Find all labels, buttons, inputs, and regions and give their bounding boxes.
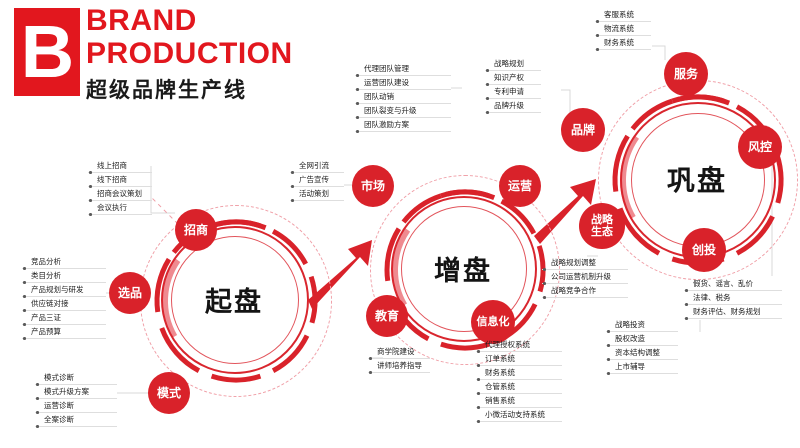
list-xuanpin: 竞品分析类目分析产品规划与研发供应链对接产品三证产品预算 [22,255,106,339]
list-item: 线上招商 [88,159,152,173]
list-item: 小微活动支持系统 [476,408,562,422]
list-item: 招商会议策划 [88,187,152,201]
node-yunying[interactable]: 运营 [499,165,541,207]
diagram-canvas: B BRAND PRODUCTION 超级品牌生产线 起盘 招商 选品 模式 增… [0,0,800,448]
node-chuangtou[interactable]: 创投 [682,228,726,272]
node-fuwu-label: 服务 [674,68,698,81]
node-pinpai[interactable]: 品牌 [561,108,605,152]
node-zhanlue-label-line2: 生态 [591,226,613,238]
list-item: 战略投资 [606,318,678,332]
node-chuangtou-label: 创投 [692,244,716,257]
list-item: 产品规划与研发 [22,283,106,297]
list-item: 假货、谣言、乱价 [684,277,782,291]
list-item: 团队激励方案 [355,118,451,132]
list-item: 公司运营机制升级 [542,270,628,284]
node-moshi-label: 模式 [157,387,181,400]
list-item: 供应链对接 [22,297,106,311]
list-item: 股权改造 [606,332,678,346]
list-item: 全网引流 [290,159,344,173]
list-chuangtou: 战略投资股权改造资本结构调整上市辅导 [606,318,678,374]
node-pinpai-label: 品牌 [571,124,595,137]
list-item: 类目分析 [22,269,106,283]
list-item: 广告宣传 [290,173,344,187]
list-item: 战略规划 [485,57,541,71]
list-fuwu: 客服系统物流系统财务系统 [595,8,651,50]
list-item: 战略规划调整 [542,256,628,270]
node-moshi[interactable]: 模式 [148,372,190,414]
stage-label-qipan: 起盘 [171,236,297,362]
list-item: 财务评估、财务规划 [684,305,782,319]
list-item: 专利申请 [485,85,541,99]
list-tuandui: 代理团队管理运营团队建设团队动销团队裂变与升级团队激励方案 [355,62,451,132]
node-fengkong[interactable]: 风控 [738,125,782,169]
list-item: 会议执行 [88,201,152,215]
list-item: 团队裂变与升级 [355,104,451,118]
list-item: 仓管系统 [476,380,562,394]
node-xuanpin-label: 选品 [118,287,142,300]
node-zhaoshang-label: 招商 [184,224,208,237]
list-item: 法律、税务 [684,291,782,305]
node-fuwu[interactable]: 服务 [664,52,708,96]
node-jiaoyu[interactable]: 教育 [366,295,408,337]
list-item: 全案诊断 [35,413,117,427]
node-jiaoyu-label: 教育 [375,310,399,323]
list-item: 运营团队建设 [355,76,451,90]
node-shichang[interactable]: 市场 [352,165,394,207]
list-zhanlue: 战略规划调整公司运营机制升级战略竞争合作 [542,256,628,298]
logo-mark: B [14,8,80,96]
logo-mark-letter: B [14,8,80,96]
logo-text: BRAND PRODUCTION 超级品牌生产线 [86,6,293,104]
logo-subtitle: 超级品牌生产线 [86,74,293,104]
list-item: 模式升级方案 [35,385,117,399]
stage-group-qipan: 起盘 [140,205,332,397]
list-item: 代理团队管理 [355,62,451,76]
list-item: 资本结构调整 [606,346,678,360]
list-item: 战略竞争合作 [542,284,628,298]
list-item: 讲师培养指导 [368,359,430,373]
list-item: 团队动销 [355,90,451,104]
list-item: 财务系统 [476,366,562,380]
list-item: 知识产权 [485,71,541,85]
list-item: 代理授权系统 [476,338,562,352]
list-item: 客服系统 [595,8,651,22]
list-item: 竞品分析 [22,255,106,269]
logo: B BRAND PRODUCTION 超级品牌生产线 [14,8,354,108]
list-item: 商学院建设 [368,345,430,359]
logo-line-brand: BRAND [86,6,293,36]
logo-line-production: PRODUCTION [86,39,293,69]
list-item: 品牌升级 [485,99,541,113]
list-moshi: 模式诊断模式升级方案运营诊断全案诊断 [35,371,117,427]
list-item: 销售系统 [476,394,562,408]
node-yunying-label: 运营 [508,180,532,193]
list-item: 上市辅导 [606,360,678,374]
list-item: 活动策划 [290,187,344,201]
list-fengkong: 假货、谣言、乱价法律、税务财务评估、财务规划 [684,277,782,319]
list-item: 产品三证 [22,311,106,325]
list-pinpai: 战略规划知识产权专利申请品牌升级 [485,57,541,113]
list-shichang: 全网引流广告宣传活动策划 [290,159,344,201]
node-fengkong-label: 风控 [748,141,772,154]
node-xuanpin[interactable]: 选品 [109,272,151,314]
list-jiaoyu: 商学院建设讲师培养指导 [368,345,430,373]
list-item: 线下招商 [88,173,152,187]
list-xinxihua: 代理授权系统订单系统财务系统仓管系统销售系统小微活动支持系统 [476,338,562,422]
node-zhanlue-shengtai[interactable]: 战略 生态 [579,203,625,249]
list-item: 订单系统 [476,352,562,366]
list-item: 财务系统 [595,36,651,50]
list-zhaoshang: 线上招商线下招商招商会议策划会议执行 [88,159,152,215]
node-shichang-label: 市场 [361,180,385,193]
node-xinxihua-label: 信息化 [477,316,510,328]
list-item: 模式诊断 [35,371,117,385]
list-item: 物流系统 [595,22,651,36]
list-item: 产品预算 [22,325,106,339]
list-item: 运营诊断 [35,399,117,413]
node-zhaoshang[interactable]: 招商 [175,209,217,251]
